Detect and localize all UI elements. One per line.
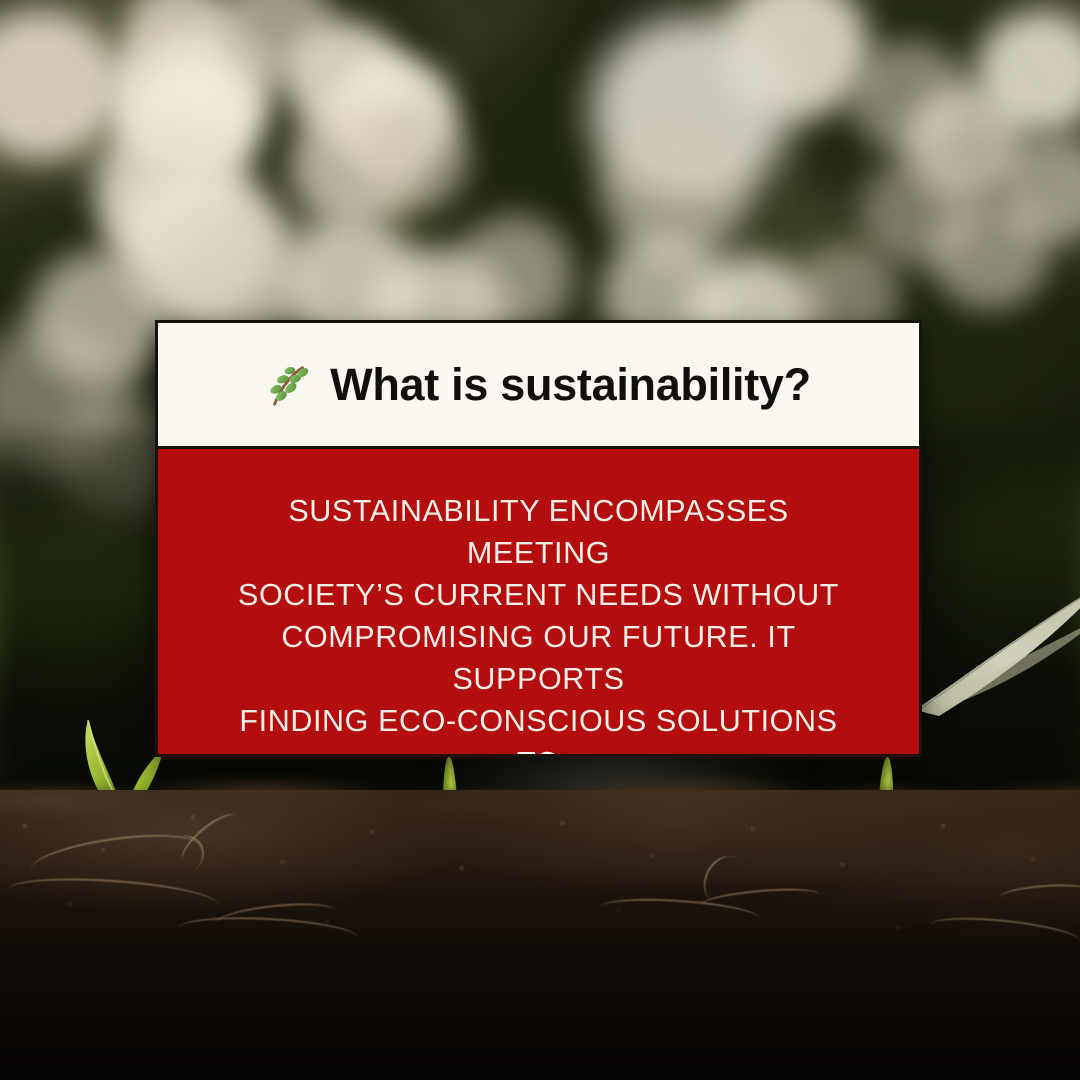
card-title: What is sustainability? — [330, 359, 811, 411]
pale-leaf-blade-secondary — [925, 600, 1080, 720]
bokeh-circle — [360, 105, 470, 210]
card-body: SUSTAINABILITY ENCOMPASSES MEETINGSOCIET… — [158, 449, 919, 757]
bokeh-circle — [930, 195, 1050, 310]
card-body-text: SUSTAINABILITY ENCOMPASSES MEETINGSOCIET… — [219, 490, 859, 757]
poster-canvas: What is sustainability? SUSTAINABILITY E… — [0, 0, 1080, 1080]
herb-leaf-icon — [266, 362, 312, 408]
sustainability-card: What is sustainability? SUSTAINABILITY E… — [155, 320, 922, 757]
card-header: What is sustainability? — [158, 323, 919, 449]
bokeh-circle — [455, 215, 575, 333]
bottom-vignette — [0, 860, 1080, 1080]
